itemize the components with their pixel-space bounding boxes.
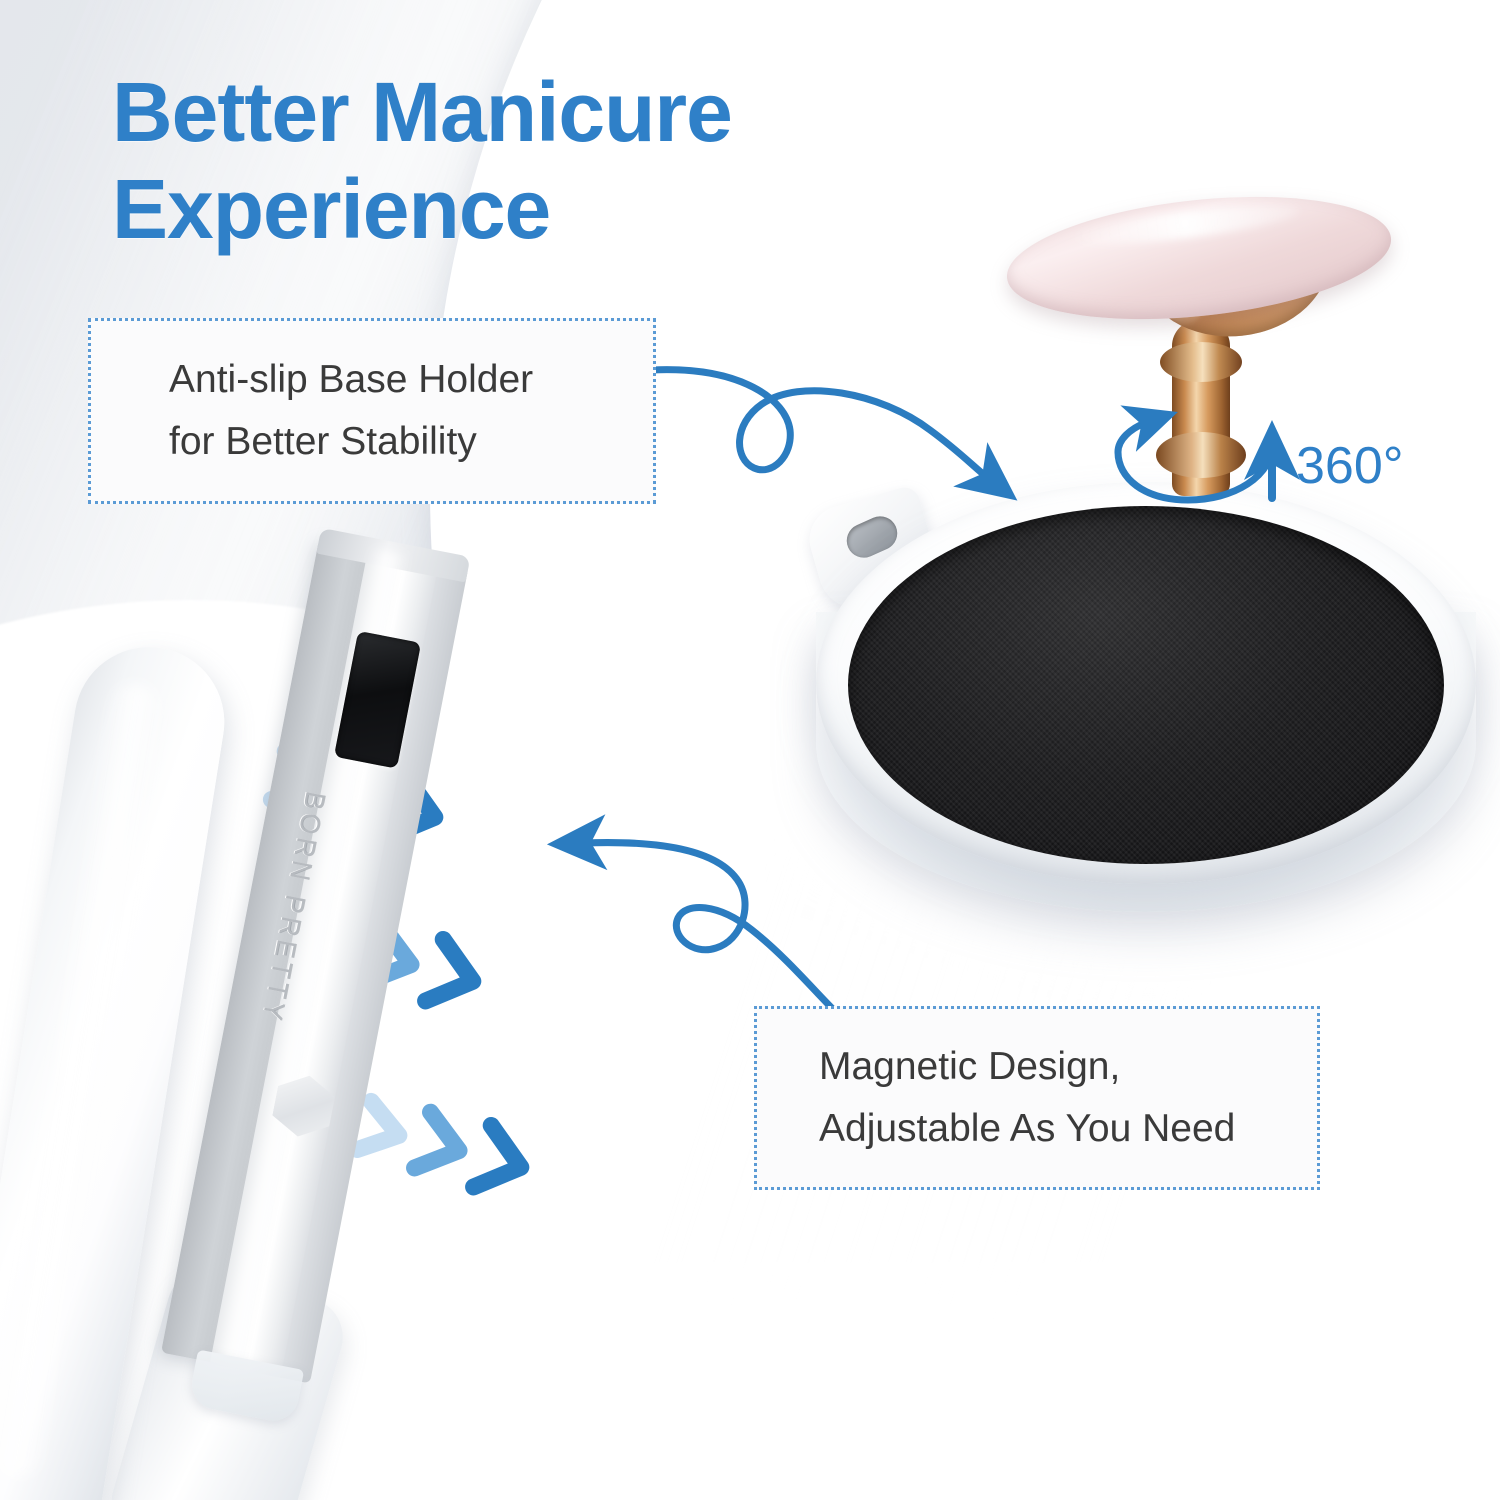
rotation-degrees-label: 360° (1296, 436, 1404, 496)
callout-magnetic: Magnetic Design, Adjustable As You Need (754, 1006, 1320, 1190)
callout-arrow-to-pen (584, 843, 846, 1022)
callout-anti-slip: Anti-slip Base Holder for Better Stabili… (88, 318, 656, 504)
callout-magnetic-line-2: Adjustable As You Need (819, 1098, 1317, 1160)
callout-anti-slip-line-2: for Better Stability (169, 411, 653, 473)
product-feature-image: Better Manicure Experience (0, 0, 1500, 1500)
callout-magnetic-line-1: Magnetic Design, (819, 1036, 1317, 1098)
callout-arrow-to-base (652, 370, 988, 478)
callout-anti-slip-line-1: Anti-slip Base Holder (169, 349, 653, 411)
annotation-overlay (0, 0, 1500, 1500)
rotation-arc-icon (1118, 422, 1274, 500)
